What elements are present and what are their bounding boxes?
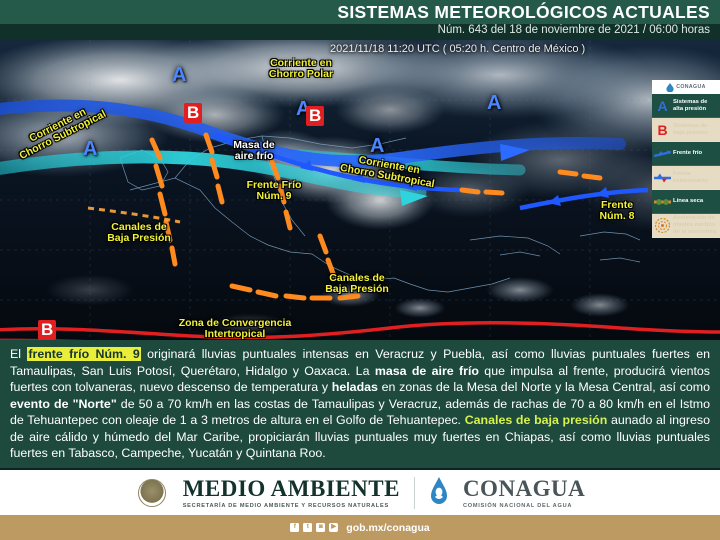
mexico-national-seal-icon [135, 476, 169, 510]
legend-label-dry-line: Línea seca [673, 198, 705, 205]
fc-bold-norte-event: evento de "Norte" [10, 397, 117, 411]
twitter-icon[interactable]: t [303, 523, 312, 532]
high-pressure-mark-4: A [370, 135, 384, 158]
agency-logo-block: CONAGUA COMISIÓN NACIONAL DEL AGUA [463, 477, 585, 509]
agency-title: CONAGUA [463, 477, 585, 500]
label-zona-convergencia-intertropical: Zona de ConvergenciaIntertropical [155, 318, 315, 340]
label-frente-frio-num-9: Frente FríoNúm. 9 [233, 180, 315, 203]
high-pressure-mark-5: A [487, 92, 501, 115]
page-title: SISTEMAS METEOROLÓGICOS ACTUALES [337, 2, 710, 23]
high-pressure-A-icon: A [652, 94, 673, 117]
fc-seg-4: en zonas de la Mesa del Norte y la Mesa … [378, 380, 710, 394]
legend-item-stationary-front: Frenteestacionario [652, 166, 720, 190]
label-canales-baja-presion-oeste: Canales deBaja Presión [95, 222, 183, 245]
ministry-logo-block: MEDIO AMBIENTE SECRETARÍA DE MEDIO AMBIE… [183, 477, 400, 509]
fc-highlight-cold-front: frente frío Núm. 9 [27, 347, 140, 361]
mid-level-circulation-icon [652, 214, 673, 237]
cold-front-icon [652, 142, 673, 165]
high-pressure-mark-1: A [172, 64, 186, 87]
map-legend: CONAGUA A Sistemas dealta presión B Sist… [652, 80, 720, 238]
legend-item-low-pressure: B Sistemas debaja presión [652, 118, 720, 142]
legend-label-low-pressure: Sistemas debaja presión [673, 123, 710, 137]
label-canales-baja-presion-sureste: Canales deBaja Presión [313, 273, 401, 296]
conagua-drop-icon [429, 476, 449, 510]
legend-label-stationary-front: Frenteestacionario [673, 171, 710, 185]
dry-line-icon [652, 190, 673, 213]
social-bar: f t ◙ ▶ gob.mx/conagua [0, 515, 720, 540]
agency-subtitle: COMISIÓN NACIONAL DEL AGUA [463, 503, 585, 509]
bulletin-issue-text: Núm. 643 del 18 de noviembre de 2021 / 0… [438, 24, 710, 36]
fc-bold-cold-air-mass: masa de aire frío [375, 364, 479, 378]
ministry-subtitle: SECRETARÍA DE MEDIO AMBIENTE Y RECURSOS … [183, 503, 400, 509]
website-url[interactable]: gob.mx/conagua [346, 522, 429, 534]
legend-item-mid-level-circulation: Aceleración deniveles mediosde la atmósf… [652, 214, 720, 238]
label-masa-de-aire-frio: Masa deaire frío [219, 140, 289, 163]
high-pressure-mark-2: A [83, 138, 97, 161]
facebook-icon[interactable]: f [290, 523, 299, 532]
legend-item-cold-front: Frente frío [652, 142, 720, 166]
youtube-icon[interactable]: ▶ [329, 523, 338, 532]
stationary-front-icon [652, 166, 673, 189]
legend-item-high-pressure: A Sistemas dealta presión [652, 94, 720, 118]
low-pressure-mark-1: B [184, 103, 202, 123]
water-drop-icon [666, 83, 674, 92]
low-pressure-B-icon: B [652, 118, 673, 141]
fc-bold-frost: heladas [332, 380, 378, 394]
forecast-text-block: El frente frío Núm. 9 originará lluvias … [0, 340, 720, 468]
legend-item-dry-line: Línea seca [652, 190, 720, 214]
instagram-icon[interactable]: ◙ [316, 523, 325, 532]
forecast-paragraph: El frente frío Núm. 9 originará lluvias … [10, 346, 710, 462]
footer-logo-divider [414, 477, 415, 509]
satellite-timestamp: 2021/11/18 11:20 UTC ( 05:20 h. Centro d… [330, 43, 585, 55]
fc-seg-1: El [10, 347, 27, 361]
legend-label-cold-front: Frente frío [673, 150, 704, 157]
legend-conagua-logo: CONAGUA [652, 80, 720, 94]
ministry-title: MEDIO AMBIENTE [183, 477, 400, 500]
satellite-map: 2021/11/18 11:20 UTC ( 05:20 h. Centro d… [0, 40, 720, 340]
footer-logos: MEDIO AMBIENTE SECRETARÍA DE MEDIO AMBIE… [0, 470, 720, 515]
weather-bulletin-page: SISTEMAS METEOROLÓGICOS ACTUALES Núm. 64… [0, 0, 720, 540]
fc-highlight-low-pressure-channels: Canales de baja presión [465, 413, 608, 427]
header-bar: SISTEMAS METEOROLÓGICOS ACTUALES [0, 0, 720, 24]
low-pressure-mark-3: B [38, 320, 56, 340]
subheader-bar: Núm. 643 del 18 de noviembre de 2021 / 0… [0, 24, 720, 40]
label-corriente-chorro-polar: Corriente enChorro Polar [246, 58, 356, 81]
legend-label-mid-level-circulation: Aceleración deniveles mediosde la atmósf… [673, 215, 718, 235]
low-pressure-mark-2: B [306, 106, 324, 126]
label-frente-num-8: FrenteNúm. 8 [588, 200, 646, 223]
legend-label-high-pressure: Sistemas dealta presión [673, 99, 709, 113]
legend-logo-label: CONAGUA [676, 84, 706, 90]
